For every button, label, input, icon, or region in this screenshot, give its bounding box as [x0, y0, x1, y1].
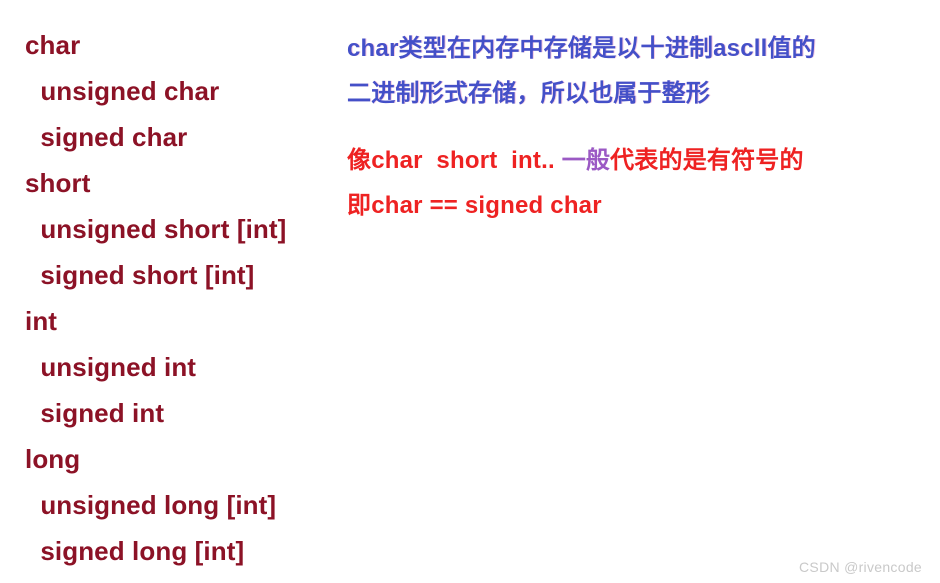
- note-block-signedness: 像char short int.. 一般代表的是有符号的 即char == si…: [347, 138, 922, 228]
- type-list-item: signed long [int]: [0, 528, 340, 574]
- slide-canvas: char unsigned char signed char short uns…: [0, 0, 940, 583]
- annotation-notes: char类型在内存中存储是以十进制ascll值的 二进制形式存储，所以也属于整形…: [347, 26, 922, 250]
- note-block-storage: char类型在内存中存储是以十进制ascll值的 二进制形式存储，所以也属于整形: [347, 26, 922, 116]
- note-line-mixed: 像char short int.. 一般代表的是有符号的: [347, 138, 922, 183]
- type-list-item: short: [0, 160, 340, 206]
- note-line: char类型在内存中存储是以十进制ascll值的: [347, 26, 922, 71]
- note-text-segment: 代表的是有符号的: [610, 147, 804, 174]
- type-list-item: signed short [int]: [0, 252, 340, 298]
- note-text-segment: 像char short int..: [347, 147, 562, 174]
- type-list-item: unsigned int: [0, 344, 340, 390]
- type-list-item: int: [0, 298, 340, 344]
- type-list-item: char: [0, 22, 340, 68]
- note-text-highlight: 一般: [562, 147, 610, 174]
- note-line: 二进制形式存储，所以也属于整形: [347, 71, 922, 116]
- type-list-item: unsigned char: [0, 68, 340, 114]
- type-list-item: long: [0, 436, 340, 482]
- type-list-item: signed int: [0, 390, 340, 436]
- type-list-item: signed char: [0, 114, 340, 160]
- type-list-item: unsigned short [int]: [0, 206, 340, 252]
- note-line: 即char == signed char: [347, 183, 922, 228]
- c-type-list: char unsigned char signed char short uns…: [0, 22, 340, 574]
- watermark: CSDN @rivencode: [799, 559, 922, 575]
- type-list-item: unsigned long [int]: [0, 482, 340, 528]
